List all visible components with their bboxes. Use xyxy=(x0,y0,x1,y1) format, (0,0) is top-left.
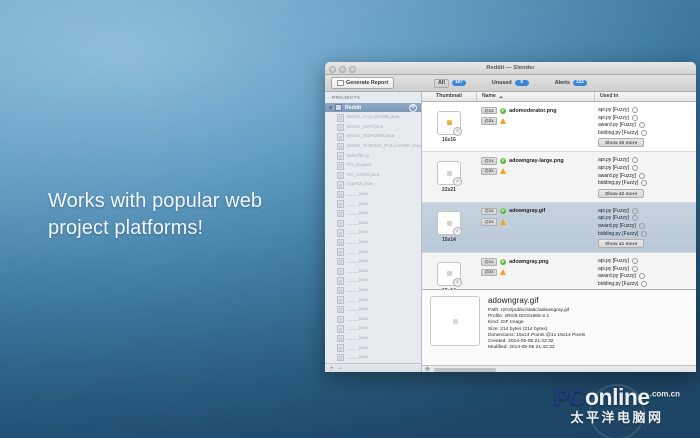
document-icon xyxy=(337,80,344,87)
magnifier-icon[interactable]: ⌕ xyxy=(453,127,462,136)
scale-tag-1x: @1x xyxy=(481,208,497,215)
used-in-label: bidding.py [Fuzzy] xyxy=(598,231,638,237)
reveal-icon[interactable] xyxy=(632,266,638,272)
remove-project-button[interactable]: − xyxy=(339,366,343,372)
used-in-entry[interactable]: award.py [Fuzzy] xyxy=(598,223,691,229)
sidebar-file-item[interactable]: TO_ID.java xyxy=(325,161,421,171)
sidebar-file-label: TO_JSON.java xyxy=(347,173,380,178)
image-preview-icon xyxy=(453,319,458,324)
used-in-label: bidding.py [Fuzzy] xyxy=(598,130,638,136)
reveal-icon[interactable] xyxy=(632,165,638,171)
sidebar-file-label: ____.java xyxy=(347,221,368,226)
used-in-label: api.py [Fuzzy] xyxy=(598,215,629,221)
sidebar-footer: + − xyxy=(325,363,421,372)
used-in-label: api.py [Fuzzy] xyxy=(598,258,629,264)
reveal-icon[interactable] xyxy=(639,273,645,279)
sidebar-file-item[interactable]: MAKE_BORDER.java xyxy=(325,132,421,142)
used-in-entry[interactable]: api.py [Fuzzy] xyxy=(598,208,691,214)
image-preview-icon xyxy=(447,271,452,276)
sidebar-file-list[interactable]: MAKE_FULLNAME.javaMAKE_MAP.javaMAKE_BORD… xyxy=(325,112,421,363)
file-icon xyxy=(337,296,344,304)
image-preview-icon xyxy=(447,221,452,226)
used-in-label: award.py [Fuzzy] xyxy=(598,273,636,279)
reveal-icon[interactable] xyxy=(632,115,638,121)
file-icon xyxy=(337,344,344,352)
asset-dimensions: 22x21 xyxy=(442,187,456,193)
sidebar-file-label: ____.java xyxy=(347,202,368,207)
magnifier-icon[interactable]: ⌕ xyxy=(453,227,462,236)
file-icon xyxy=(337,306,344,314)
sidebar-file-label: ____.java xyxy=(347,355,368,360)
cell-thumbnail: ⌕22x21 xyxy=(422,152,476,201)
used-in-label: api.py [Fuzzy] xyxy=(598,266,629,272)
cell-used-in: api.py [Fuzzy]api.py [Fuzzy]award.py [Fu… xyxy=(593,102,696,151)
column-header-name-label: Name xyxy=(482,92,496,101)
used-in-entry[interactable]: award.py [Fuzzy] xyxy=(598,122,691,128)
used-in-entry[interactable]: bidding.py [Fuzzy] xyxy=(598,231,691,237)
disclosure-triangle-icon[interactable] xyxy=(329,106,333,109)
app-window: Reddit — Slender Generate Report All 107… xyxy=(325,62,696,372)
sidebar-file-label: TO_ID.java xyxy=(347,163,372,168)
sidebar-file-label: ____.java xyxy=(347,336,368,341)
file-icon xyxy=(337,181,344,189)
used-in-label: api.py [Fuzzy] xyxy=(598,107,629,113)
desktop-background: Works with popular web project platforms… xyxy=(0,0,700,438)
sidebar-file-label: ____.java xyxy=(347,192,368,197)
used-in-label: api.py [Fuzzy] xyxy=(598,115,629,121)
status-ok-icon: ✓ xyxy=(500,208,506,214)
file-icon xyxy=(337,325,344,333)
sidebar-file-item[interactable]: Makefile.js xyxy=(325,151,421,161)
asset-thumbnail[interactable]: ⌕ xyxy=(437,161,461,185)
used-in-label: api.py [Fuzzy] xyxy=(598,165,629,171)
file-icon xyxy=(337,229,344,237)
reveal-icon[interactable] xyxy=(641,180,647,186)
reveal-icon[interactable] xyxy=(632,215,638,221)
image-preview-icon xyxy=(447,120,452,125)
name-line-secondary: @2x xyxy=(481,168,593,175)
sidebar-file-label: Makefile.js xyxy=(347,154,370,159)
used-in-entry[interactable]: bidding.py [Fuzzy] xyxy=(598,130,691,136)
reveal-icon[interactable] xyxy=(641,281,647,287)
used-in-label: api.py [Fuzzy] xyxy=(598,157,629,163)
sidebar-item-label: Reddit xyxy=(345,105,361,111)
filter-alerts-label: Alerts xyxy=(555,80,570,86)
asset-thumbnail[interactable]: ⌕ xyxy=(437,211,461,235)
name-line-secondary: @2x xyxy=(481,269,593,276)
asset-filename: adowngray-large.png xyxy=(509,158,564,164)
sidebar-file-item[interactable]: ____.java xyxy=(325,219,421,229)
sidebar-file-label: ____.java xyxy=(347,259,368,264)
table-header: Thumbnail Name Used In xyxy=(422,92,696,102)
used-in-entry[interactable]: api.py [Fuzzy] xyxy=(598,266,691,272)
file-icon xyxy=(337,162,344,170)
file-icon xyxy=(337,220,344,228)
file-icon xyxy=(337,258,344,266)
window-titlebar[interactable]: Reddit — Slender xyxy=(325,62,696,75)
sidebar-file-item[interactable]: TO_JSON.java xyxy=(325,171,421,181)
scale-tag-1x: @1x xyxy=(481,157,497,164)
file-icon xyxy=(337,152,344,160)
watermark-domain: .com.cn xyxy=(650,390,680,399)
sidebar-file-item[interactable]: ____.java xyxy=(325,295,421,305)
table-row[interactable]: ⌕15x14@1x✓adowngray.png@2xapi.py [Fuzzy]… xyxy=(422,253,696,289)
sidebar-file-item[interactable]: ____.java xyxy=(325,286,421,296)
asset-dimensions: 15x14 xyxy=(442,237,456,243)
used-in-entry[interactable]: award.py [Fuzzy] xyxy=(598,273,691,279)
refresh-icon[interactable]: ⟳ xyxy=(409,104,417,112)
asset-filename: adowngray.gif xyxy=(509,208,545,214)
asset-thumbnail[interactable]: ⌕ xyxy=(437,111,461,135)
column-header-name[interactable]: Name xyxy=(477,92,595,101)
scale-tag-2x: @2x xyxy=(481,168,497,175)
watermark-brand-pc: PC xyxy=(554,384,585,410)
sidebar-file-item[interactable]: ____.java xyxy=(325,314,421,324)
name-line-primary: @1x✓adowngray.gif xyxy=(481,208,593,215)
status-warning-icon xyxy=(500,168,506,174)
detail-metadata: Path: r2/r2/public/static/adowngray.gifP… xyxy=(488,308,585,351)
sidebar-file-label: ____.java xyxy=(347,269,368,274)
sidebar-file-item[interactable]: TypeOf.java xyxy=(325,180,421,190)
reveal-icon[interactable] xyxy=(641,130,647,136)
detail-info: adowngray.gif Path: r2/r2/public/static/… xyxy=(488,296,585,359)
sidebar-file-label: ____.java xyxy=(347,211,368,216)
file-icon xyxy=(337,287,344,295)
sidebar-file-item[interactable]: ____.java xyxy=(325,228,421,238)
file-icon xyxy=(337,210,344,218)
cell-thumbnail: ⌕16x16 xyxy=(422,102,476,151)
image-preview-icon xyxy=(447,171,452,176)
used-in-label: award.py [Fuzzy] xyxy=(598,173,636,179)
window-title: Reddit — Slender xyxy=(325,65,696,71)
sidebar-file-label: ____.java xyxy=(347,230,368,235)
sidebar-file-item[interactable]: ____.java xyxy=(325,343,421,353)
cell-thumbnail: ⌕15x14 xyxy=(422,203,476,252)
sidebar-file-label: MAKE_BORDER.java xyxy=(347,134,395,139)
used-in-label: award.py [Fuzzy] xyxy=(598,122,636,128)
reveal-icon[interactable] xyxy=(641,231,647,237)
sidebar-file-item[interactable]: MAKE_THINGS_FULLNAME.java xyxy=(325,142,421,152)
sidebar-file-item[interactable]: ____.java xyxy=(325,276,421,286)
cell-name: @1x✓adowngray.gif@2x xyxy=(476,203,593,252)
sidebar-file-label: MAKE_FULLNAME.java xyxy=(347,115,400,120)
generate-report-label: Generate Report xyxy=(346,80,388,86)
scale-tag-1x: @1x xyxy=(481,258,497,265)
used-in-entry[interactable]: api.py [Fuzzy] xyxy=(598,115,691,121)
cell-name: @1x✓adomoderator.png@2x xyxy=(476,102,593,151)
window-body: PROJECTS Reddit ⟳ MAKE_FULLNAME.javaMAKE… xyxy=(325,92,696,372)
sidebar: PROJECTS Reddit ⟳ MAKE_FULLNAME.javaMAKE… xyxy=(325,92,422,372)
sidebar-file-label: ____.java xyxy=(347,288,368,293)
sidebar-file-label: ____.java xyxy=(347,317,368,322)
filter-all-label: All xyxy=(434,79,449,88)
asset-dimensions: 16x16 xyxy=(442,137,456,143)
used-in-label: bidding.py [Fuzzy] xyxy=(598,281,638,287)
filter-unused-count: 5 xyxy=(515,80,529,86)
show-more-button[interactable]: Show 42 more xyxy=(598,189,644,198)
scale-tag-2x: @2x xyxy=(481,117,497,124)
sidebar-file-label: ____.java xyxy=(347,307,368,312)
filter-alerts[interactable]: Alerts 102 xyxy=(555,80,587,86)
filter-alerts-count: 102 xyxy=(573,80,587,86)
status-warning-icon xyxy=(500,219,506,225)
sidebar-file-item[interactable]: ____.java xyxy=(325,199,421,209)
sidebar-file-label: ____.java xyxy=(347,278,368,283)
marketing-headline: Works with popular web project platforms… xyxy=(48,188,328,242)
magnifier-icon[interactable]: ⌕ xyxy=(453,177,462,186)
show-more-button[interactable]: Show 41 more xyxy=(598,239,644,248)
detail-thumbnail[interactable] xyxy=(430,296,480,346)
generate-report-button[interactable]: Generate Report xyxy=(331,77,394,89)
used-in-entry[interactable]: api.py [Fuzzy] xyxy=(598,107,691,113)
watermark: PConline.com.cn 太平洋电脑网 xyxy=(542,380,692,432)
sidebar-file-item[interactable]: ____.java xyxy=(325,257,421,267)
status-warning-icon xyxy=(500,118,506,124)
detail-pane: adowngray.gif Path: r2/r2/public/static/… xyxy=(422,289,696,365)
scale-tag-2x: @2x xyxy=(481,218,497,225)
asset-filename: adomoderator.png xyxy=(509,108,556,114)
filter-unused-label: Unused xyxy=(492,80,512,86)
sidebar-file-label: MAKE_THINGS_FULLNAME.java xyxy=(347,144,421,149)
sidebar-file-item[interactable]: ____.java xyxy=(325,190,421,200)
name-line-primary: @1x✓adomoderator.png xyxy=(481,107,593,114)
project-icon xyxy=(335,104,342,112)
file-icon xyxy=(337,200,344,208)
file-icon xyxy=(337,316,344,324)
file-icon xyxy=(337,191,344,199)
main-panel: Thumbnail Name Used In ⌕16x16@1x✓adomode… xyxy=(422,92,696,372)
asset-thumbnail[interactable]: ⌕ xyxy=(437,262,461,286)
used-in-entry[interactable]: bidding.py [Fuzzy] xyxy=(598,180,691,186)
sidebar-file-item[interactable]: ____.java xyxy=(325,209,421,219)
detail-title: adowngray.gif xyxy=(488,296,585,305)
reveal-icon[interactable] xyxy=(639,122,645,128)
sidebar-file-label: ____.java xyxy=(347,298,368,303)
sidebar-file-item[interactable]: ____.java xyxy=(325,334,421,344)
status-ok-icon: ✓ xyxy=(500,108,506,114)
sidebar-file-label: MAKE_MAP.java xyxy=(347,125,384,130)
detail-line: Modified: 2014-05-05 21:42:32 xyxy=(488,345,585,351)
sidebar-file-item[interactable]: ____.java xyxy=(325,247,421,257)
reveal-icon[interactable] xyxy=(639,173,645,179)
table-row[interactable]: ⌕15x14@1x✓adowngray.gif@2xapi.py [Fuzzy]… xyxy=(422,203,696,253)
used-in-entry[interactable]: api.py [Fuzzy] xyxy=(598,165,691,171)
sidebar-file-label: ____.java xyxy=(347,346,368,351)
name-line-secondary: @2x xyxy=(481,218,593,225)
sidebar-file-item[interactable]: ____.java xyxy=(325,267,421,277)
used-in-label: api.py [Fuzzy] xyxy=(598,208,629,214)
file-icon xyxy=(337,133,344,141)
status-warning-icon xyxy=(500,269,506,275)
globe-icon xyxy=(589,384,645,438)
scrollbar-thumb[interactable] xyxy=(434,368,496,372)
magnifier-icon[interactable]: ⌕ xyxy=(453,278,462,287)
file-icon xyxy=(337,143,344,151)
status-ok-icon: ✓ xyxy=(500,259,506,265)
file-icon xyxy=(337,248,344,256)
reveal-icon[interactable] xyxy=(632,208,638,214)
file-icon xyxy=(337,335,344,343)
column-header-thumbnail[interactable]: Thumbnail xyxy=(422,92,477,101)
cell-used-in: api.py [Fuzzy]api.py [Fuzzy]award.py [Fu… xyxy=(593,253,696,289)
sidebar-file-item[interactable]: ____.java xyxy=(325,324,421,334)
asset-filename: adowngray.png xyxy=(509,259,548,265)
sidebar-file-item[interactable]: ____.java xyxy=(325,353,421,363)
file-icon xyxy=(337,277,344,285)
add-project-button[interactable]: + xyxy=(330,366,334,372)
cell-thumbnail: ⌕15x14 xyxy=(422,253,476,289)
name-line-secondary: @2x xyxy=(481,117,593,124)
sidebar-header: PROJECTS xyxy=(325,92,421,103)
sidebar-item-reddit[interactable]: Reddit ⟳ xyxy=(325,103,421,112)
used-in-entry[interactable]: bidding.py [Fuzzy] xyxy=(598,281,691,287)
sidebar-file-item[interactable]: MAKE_MAP.java xyxy=(325,123,421,133)
column-header-used-in[interactable]: Used In xyxy=(595,92,696,101)
sidebar-file-item[interactable]: ____.java xyxy=(325,305,421,315)
used-in-label: bidding.py [Fuzzy] xyxy=(598,180,638,186)
file-icon xyxy=(337,268,344,276)
name-line-primary: @1x✓adowngray-large.png xyxy=(481,157,593,164)
asset-table[interactable]: ⌕16x16@1x✓adomoderator.png@2xapi.py [Fuz… xyxy=(422,102,696,289)
scale-tag-1x: @1x xyxy=(481,107,497,114)
file-icon xyxy=(337,239,344,247)
horizontal-scrollbar[interactable]: ✥ xyxy=(422,365,696,372)
table-row[interactable]: ⌕16x16@1x✓adomoderator.png@2xapi.py [Fuz… xyxy=(422,102,696,152)
reveal-icon[interactable] xyxy=(639,223,645,229)
sidebar-file-item[interactable]: ____.java xyxy=(325,238,421,248)
used-in-entry[interactable]: api.py [Fuzzy] xyxy=(598,157,691,163)
sidebar-file-item[interactable]: MAKE_FULLNAME.java xyxy=(325,113,421,123)
name-line-primary: @1x✓adowngray.png xyxy=(481,258,593,265)
resize-grip-icon[interactable]: ✥ xyxy=(425,367,430,372)
sidebar-file-label: ____.java xyxy=(347,326,368,331)
sort-ascending-icon xyxy=(499,96,503,98)
sidebar-file-label: TypeOf.java xyxy=(347,182,373,187)
reveal-icon[interactable] xyxy=(632,157,638,163)
toolbar: Generate Report All 107 Unused 5 Alerts … xyxy=(325,75,696,92)
scale-tag-2x: @2x xyxy=(481,269,497,276)
reveal-icon[interactable] xyxy=(632,258,638,264)
used-in-label: award.py [Fuzzy] xyxy=(598,223,636,229)
cell-name: @1x✓adowngray-large.png@2x xyxy=(476,152,593,201)
show-more-button[interactable]: Show 40 more xyxy=(598,138,644,147)
file-icon xyxy=(337,124,344,132)
table-row[interactable]: ⌕22x21@1x✓adowngray-large.png@2xapi.py [… xyxy=(422,152,696,202)
filter-all-count: 107 xyxy=(452,80,466,86)
used-in-entry[interactable]: api.py [Fuzzy] xyxy=(598,258,691,264)
file-icon xyxy=(337,114,344,122)
used-in-entry[interactable]: award.py [Fuzzy] xyxy=(598,173,691,179)
cell-name: @1x✓adowngray.png@2x xyxy=(476,253,593,289)
reveal-icon[interactable] xyxy=(632,107,638,113)
status-ok-icon: ✓ xyxy=(500,158,506,164)
filter-unused[interactable]: Unused 5 xyxy=(492,80,529,86)
cell-used-in: api.py [Fuzzy]api.py [Fuzzy]award.py [Fu… xyxy=(593,203,696,252)
cell-used-in: api.py [Fuzzy]api.py [Fuzzy]award.py [Fu… xyxy=(593,152,696,201)
filter-all[interactable]: All 107 xyxy=(434,79,466,88)
file-icon xyxy=(337,354,344,362)
file-icon xyxy=(337,172,344,180)
sidebar-file-label: ____.java xyxy=(347,240,368,245)
sidebar-file-label: ____.java xyxy=(347,250,368,255)
used-in-entry[interactable]: api.py [Fuzzy] xyxy=(598,215,691,221)
